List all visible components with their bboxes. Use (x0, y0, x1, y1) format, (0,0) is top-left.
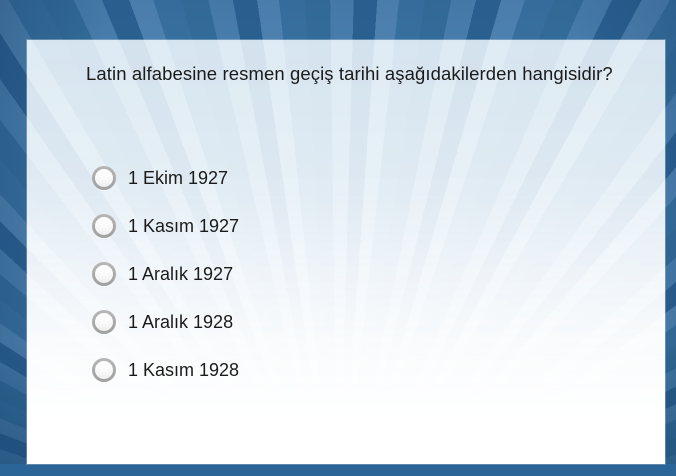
question-card: Latin alfabesine resmen geçiş tarihi aşa… (27, 40, 665, 464)
answer-option-label: 1 Aralık 1928 (128, 311, 233, 333)
answer-option-b[interactable]: 1 Kasım 1927 (92, 202, 592, 250)
radio-unchecked-icon[interactable] (92, 214, 116, 238)
background-bottom-band (0, 464, 676, 476)
answer-option-label: 1 Aralık 1927 (128, 263, 233, 285)
answer-option-label: 1 Kasım 1928 (128, 359, 239, 381)
answer-option-d[interactable]: 1 Aralık 1928 (92, 298, 592, 346)
answer-option-c[interactable]: 1 Aralık 1927 (92, 250, 592, 298)
answer-option-a[interactable]: 1 Ekim 1927 (92, 154, 592, 202)
radio-unchecked-icon[interactable] (92, 358, 116, 382)
answer-option-label: 1 Kasım 1927 (128, 215, 239, 237)
radio-unchecked-icon[interactable] (92, 310, 116, 334)
radio-unchecked-icon[interactable] (92, 166, 116, 190)
answer-options-list: 1 Ekim 1927 1 Kasım 1927 1 Aralık 1927 1… (92, 154, 592, 394)
answer-option-e[interactable]: 1 Kasım 1928 (92, 346, 592, 394)
question-text: Latin alfabesine resmen geçiş tarihi aşa… (86, 61, 616, 87)
answer-option-label: 1 Ekim 1927 (128, 167, 228, 189)
question-card-content: Latin alfabesine resmen geçiş tarihi aşa… (27, 40, 665, 464)
quiz-screen: Latin alfabesine resmen geçiş tarihi aşa… (0, 0, 676, 476)
radio-unchecked-icon[interactable] (92, 262, 116, 286)
